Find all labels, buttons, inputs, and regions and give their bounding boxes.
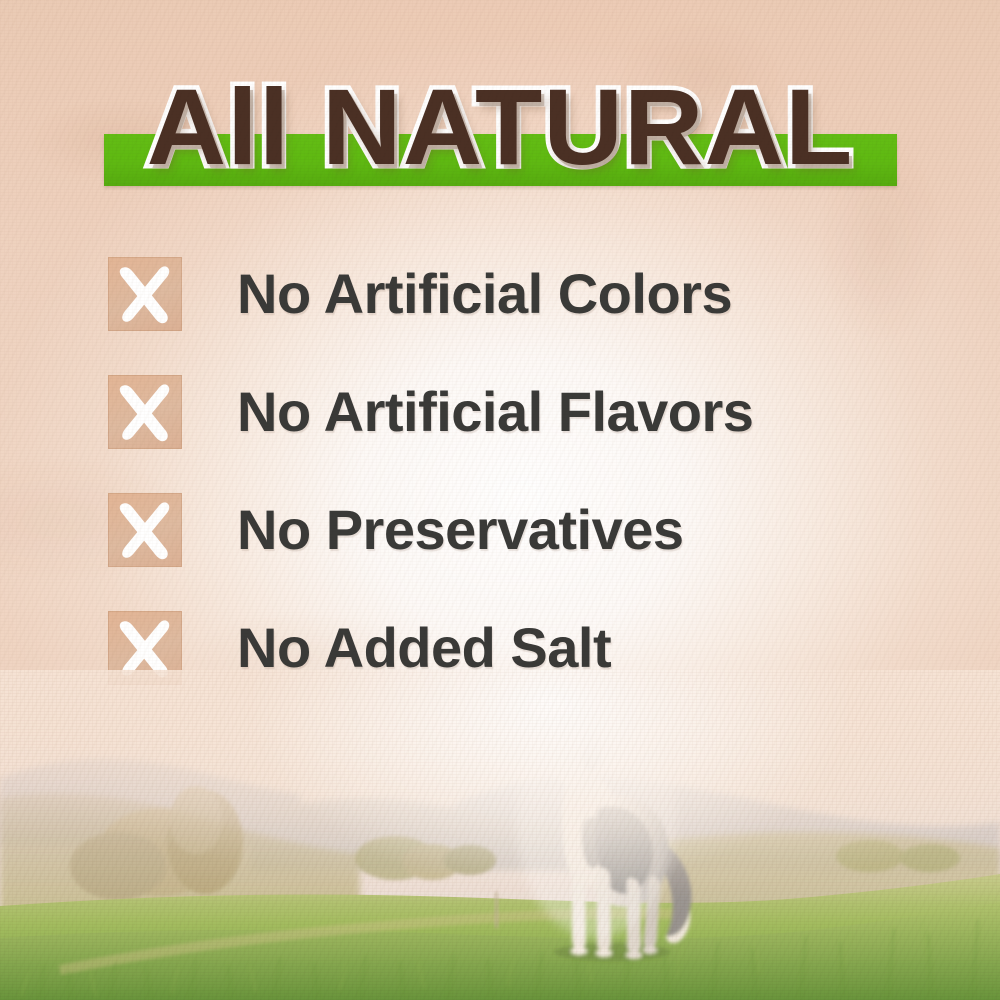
- claim-item-no-artificial-flavors: No Artificial Flavors: [108, 374, 928, 450]
- x-mark-icon: [108, 493, 182, 567]
- all-natural-product-poster: All NATURAL No Artificial Colors: [0, 0, 1000, 1000]
- claim-label: No Artificial Flavors: [237, 382, 753, 442]
- x-mark-icon: [108, 375, 182, 449]
- claim-label: No Artificial Colors: [237, 264, 732, 324]
- claim-item-no-preservatives: No Preservatives: [108, 492, 928, 568]
- x-mark-icon: [108, 257, 182, 331]
- claim-label: No Added Salt: [237, 618, 611, 678]
- landscape-dog-photo: [0, 670, 1000, 1000]
- claim-item-no-artificial-colors: No Artificial Colors: [108, 256, 928, 332]
- claim-label: No Preservatives: [237, 500, 684, 560]
- headline-banner: All NATURAL: [0, 64, 1000, 214]
- claims-list: No Artificial Colors No Artificial Flavo…: [108, 256, 928, 728]
- page-title: All NATURAL: [0, 64, 1000, 190]
